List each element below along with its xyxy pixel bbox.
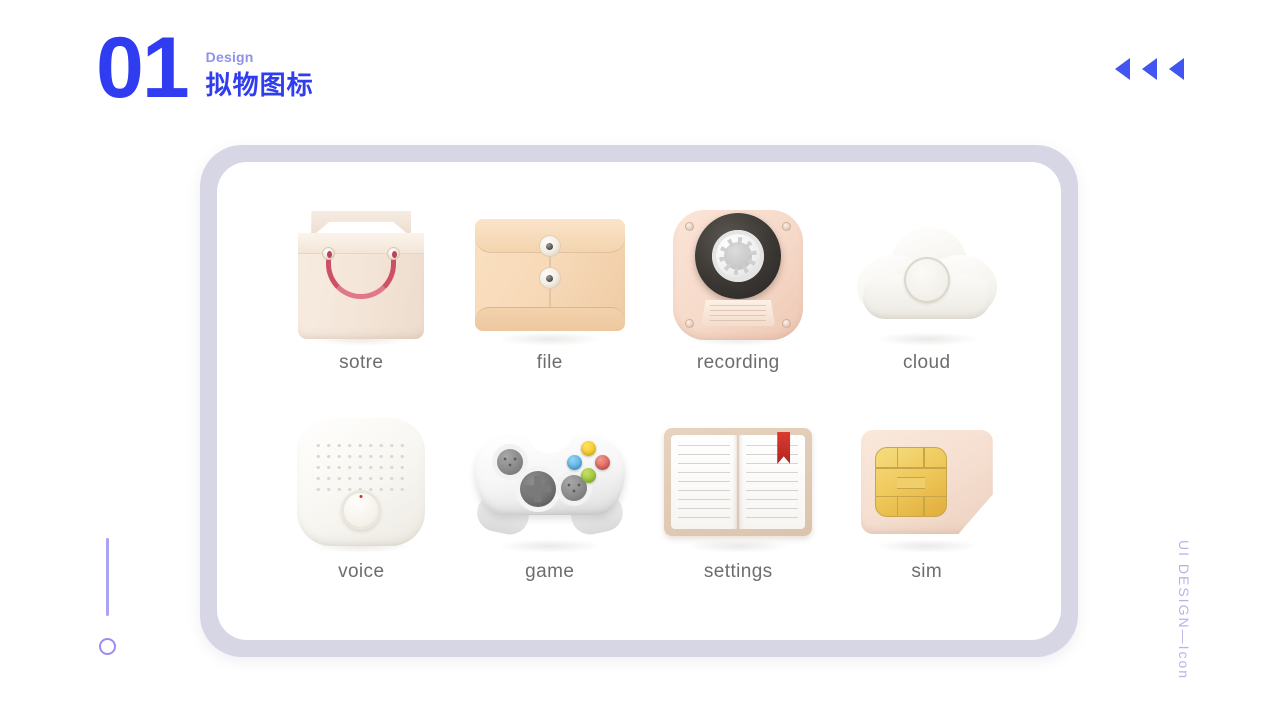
gamepad-dpad <box>520 471 556 507</box>
icon-cell-cloud[interactable]: cloud <box>833 200 1022 407</box>
envelope-pocket <box>475 307 625 331</box>
gamepad-button-y <box>581 441 596 456</box>
cloud-art <box>857 227 997 323</box>
envelope-art <box>475 219 625 331</box>
circle-decor-icon <box>99 638 116 655</box>
speaker-art <box>297 418 425 546</box>
speaker-icon <box>286 407 436 557</box>
bag-art <box>298 211 424 339</box>
icon-cell-recording[interactable]: recording <box>644 200 833 407</box>
icon-showcase-inner: sotre file <box>217 162 1061 640</box>
sim-chip-trace <box>923 448 925 468</box>
icon-label: sotre <box>339 352 383 374</box>
sim-card-icon <box>852 407 1002 557</box>
icon-cell-file[interactable]: file <box>456 200 645 407</box>
cloud-center-button <box>904 257 950 303</box>
section-number: 01 <box>96 28 188 110</box>
vertical-brand-label: UI DESIGN—Icon <box>1176 540 1192 680</box>
triangle-left-icon <box>1115 58 1130 80</box>
icon-label: game <box>525 561 574 583</box>
vertical-line-decor <box>106 538 109 616</box>
icon-shadow <box>497 332 602 346</box>
speaker-knob <box>341 490 381 530</box>
page-title: 拟物图标 <box>206 71 314 101</box>
icon-cell-sim[interactable]: sim <box>833 407 1022 614</box>
screw-icon <box>782 222 791 231</box>
reel-ring <box>712 230 764 282</box>
envelope-icon <box>475 200 625 350</box>
icon-cell-settings[interactable]: settings <box>644 407 833 614</box>
cassette-reel-icon <box>663 200 813 350</box>
sim-chip-trace <box>897 448 899 468</box>
sim-art <box>861 430 993 534</box>
icon-label: recording <box>697 352 780 374</box>
sim-chip-trace <box>923 496 925 516</box>
book-art <box>664 428 812 536</box>
envelope-button-top <box>539 235 561 257</box>
icon-label: settings <box>704 561 773 583</box>
icon-shadow <box>497 539 602 553</box>
sim-chip-trace <box>897 496 899 516</box>
recorder-grille <box>701 300 775 326</box>
icon-cell-game[interactable]: game <box>456 407 645 614</box>
icon-shadow <box>686 539 791 553</box>
icon-shadow <box>874 539 979 553</box>
gamepad-stick-left <box>497 449 523 475</box>
sim-chip <box>875 447 947 517</box>
screw-icon <box>685 319 694 328</box>
book-page-right <box>739 435 805 529</box>
section-eyebrow: Design <box>206 50 314 65</box>
reel-outer <box>695 213 781 299</box>
book-page-left <box>671 435 737 529</box>
icon-shadow <box>874 332 979 346</box>
slide-header: 01 Design 拟物图标 <box>96 24 314 110</box>
envelope-button-bottom <box>539 267 561 289</box>
icon-cell-voice[interactable]: voice <box>267 407 456 614</box>
header-text-block: Design 拟物图标 <box>206 24 314 101</box>
cloud-icon <box>852 200 1002 350</box>
arrow-group <box>1115 58 1184 80</box>
triangle-left-icon <box>1169 58 1184 80</box>
slide-page: 01 Design 拟物图标 UI DESIGN—Icon <box>0 0 1280 720</box>
recorder-art <box>673 210 803 340</box>
gamepad-icon <box>475 407 625 557</box>
open-book-icon <box>663 407 813 557</box>
icon-cell-store[interactable]: sotre <box>267 200 456 407</box>
left-decoration <box>103 538 123 655</box>
gamepad-button-x <box>567 455 582 470</box>
icon-label: sim <box>911 561 942 583</box>
reel-hub <box>724 242 752 270</box>
speaker-grille-dots <box>313 440 409 492</box>
gamepad-button-a <box>581 468 596 483</box>
gamepad-button-b <box>595 455 610 470</box>
icon-grid: sotre file <box>267 200 1021 614</box>
screw-icon <box>685 222 694 231</box>
triangle-left-icon <box>1142 58 1157 80</box>
shopping-bag-icon <box>286 200 436 350</box>
screw-icon <box>782 319 791 328</box>
icon-showcase-frame: sotre file <box>200 145 1078 657</box>
gamepad-art <box>475 429 625 535</box>
icon-label: cloud <box>903 352 950 374</box>
gamepad-face-buttons <box>567 441 611 485</box>
icon-label: voice <box>338 561 384 583</box>
icon-label: file <box>537 352 563 374</box>
sim-chip-center <box>897 477 925 489</box>
